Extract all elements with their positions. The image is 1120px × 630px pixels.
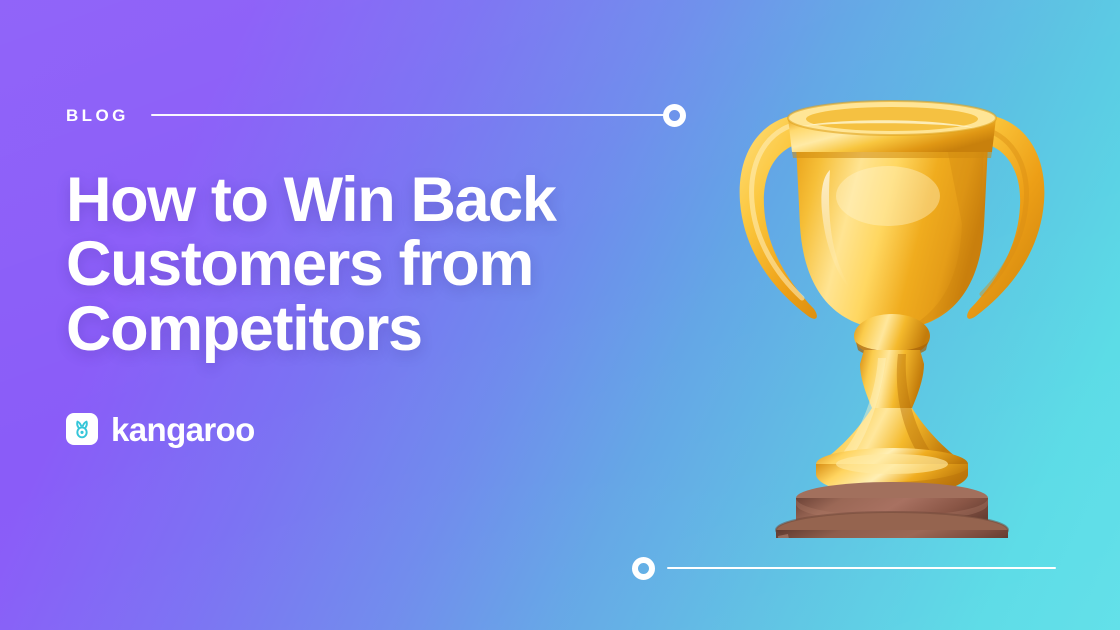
headline-line-3: Competitors (66, 297, 666, 361)
top-divider-circle-icon (663, 104, 686, 127)
eyebrow-row: BLOG (66, 100, 686, 130)
headline-line-2: Customers from (66, 232, 666, 296)
brand-lockup: kangaroo (66, 413, 686, 446)
brand-wordmark: kangaroo (111, 413, 255, 446)
bottom-divider-circle-icon (632, 557, 655, 580)
eyebrow-label: BLOG (66, 107, 129, 124)
bottom-divider (632, 556, 1056, 580)
blog-banner: BLOG How to Win Back Customers from Comp… (0, 0, 1120, 630)
bottom-divider-line (667, 567, 1056, 569)
top-divider-line (151, 114, 664, 116)
headline-line-1: How to Win Back (66, 168, 666, 232)
trophy-illustration (692, 78, 1092, 538)
kangaroo-logo-icon (66, 413, 98, 445)
banner-content: BLOG How to Win Back Customers from Comp… (66, 100, 686, 446)
page-title: How to Win Back Customers from Competito… (66, 168, 666, 361)
